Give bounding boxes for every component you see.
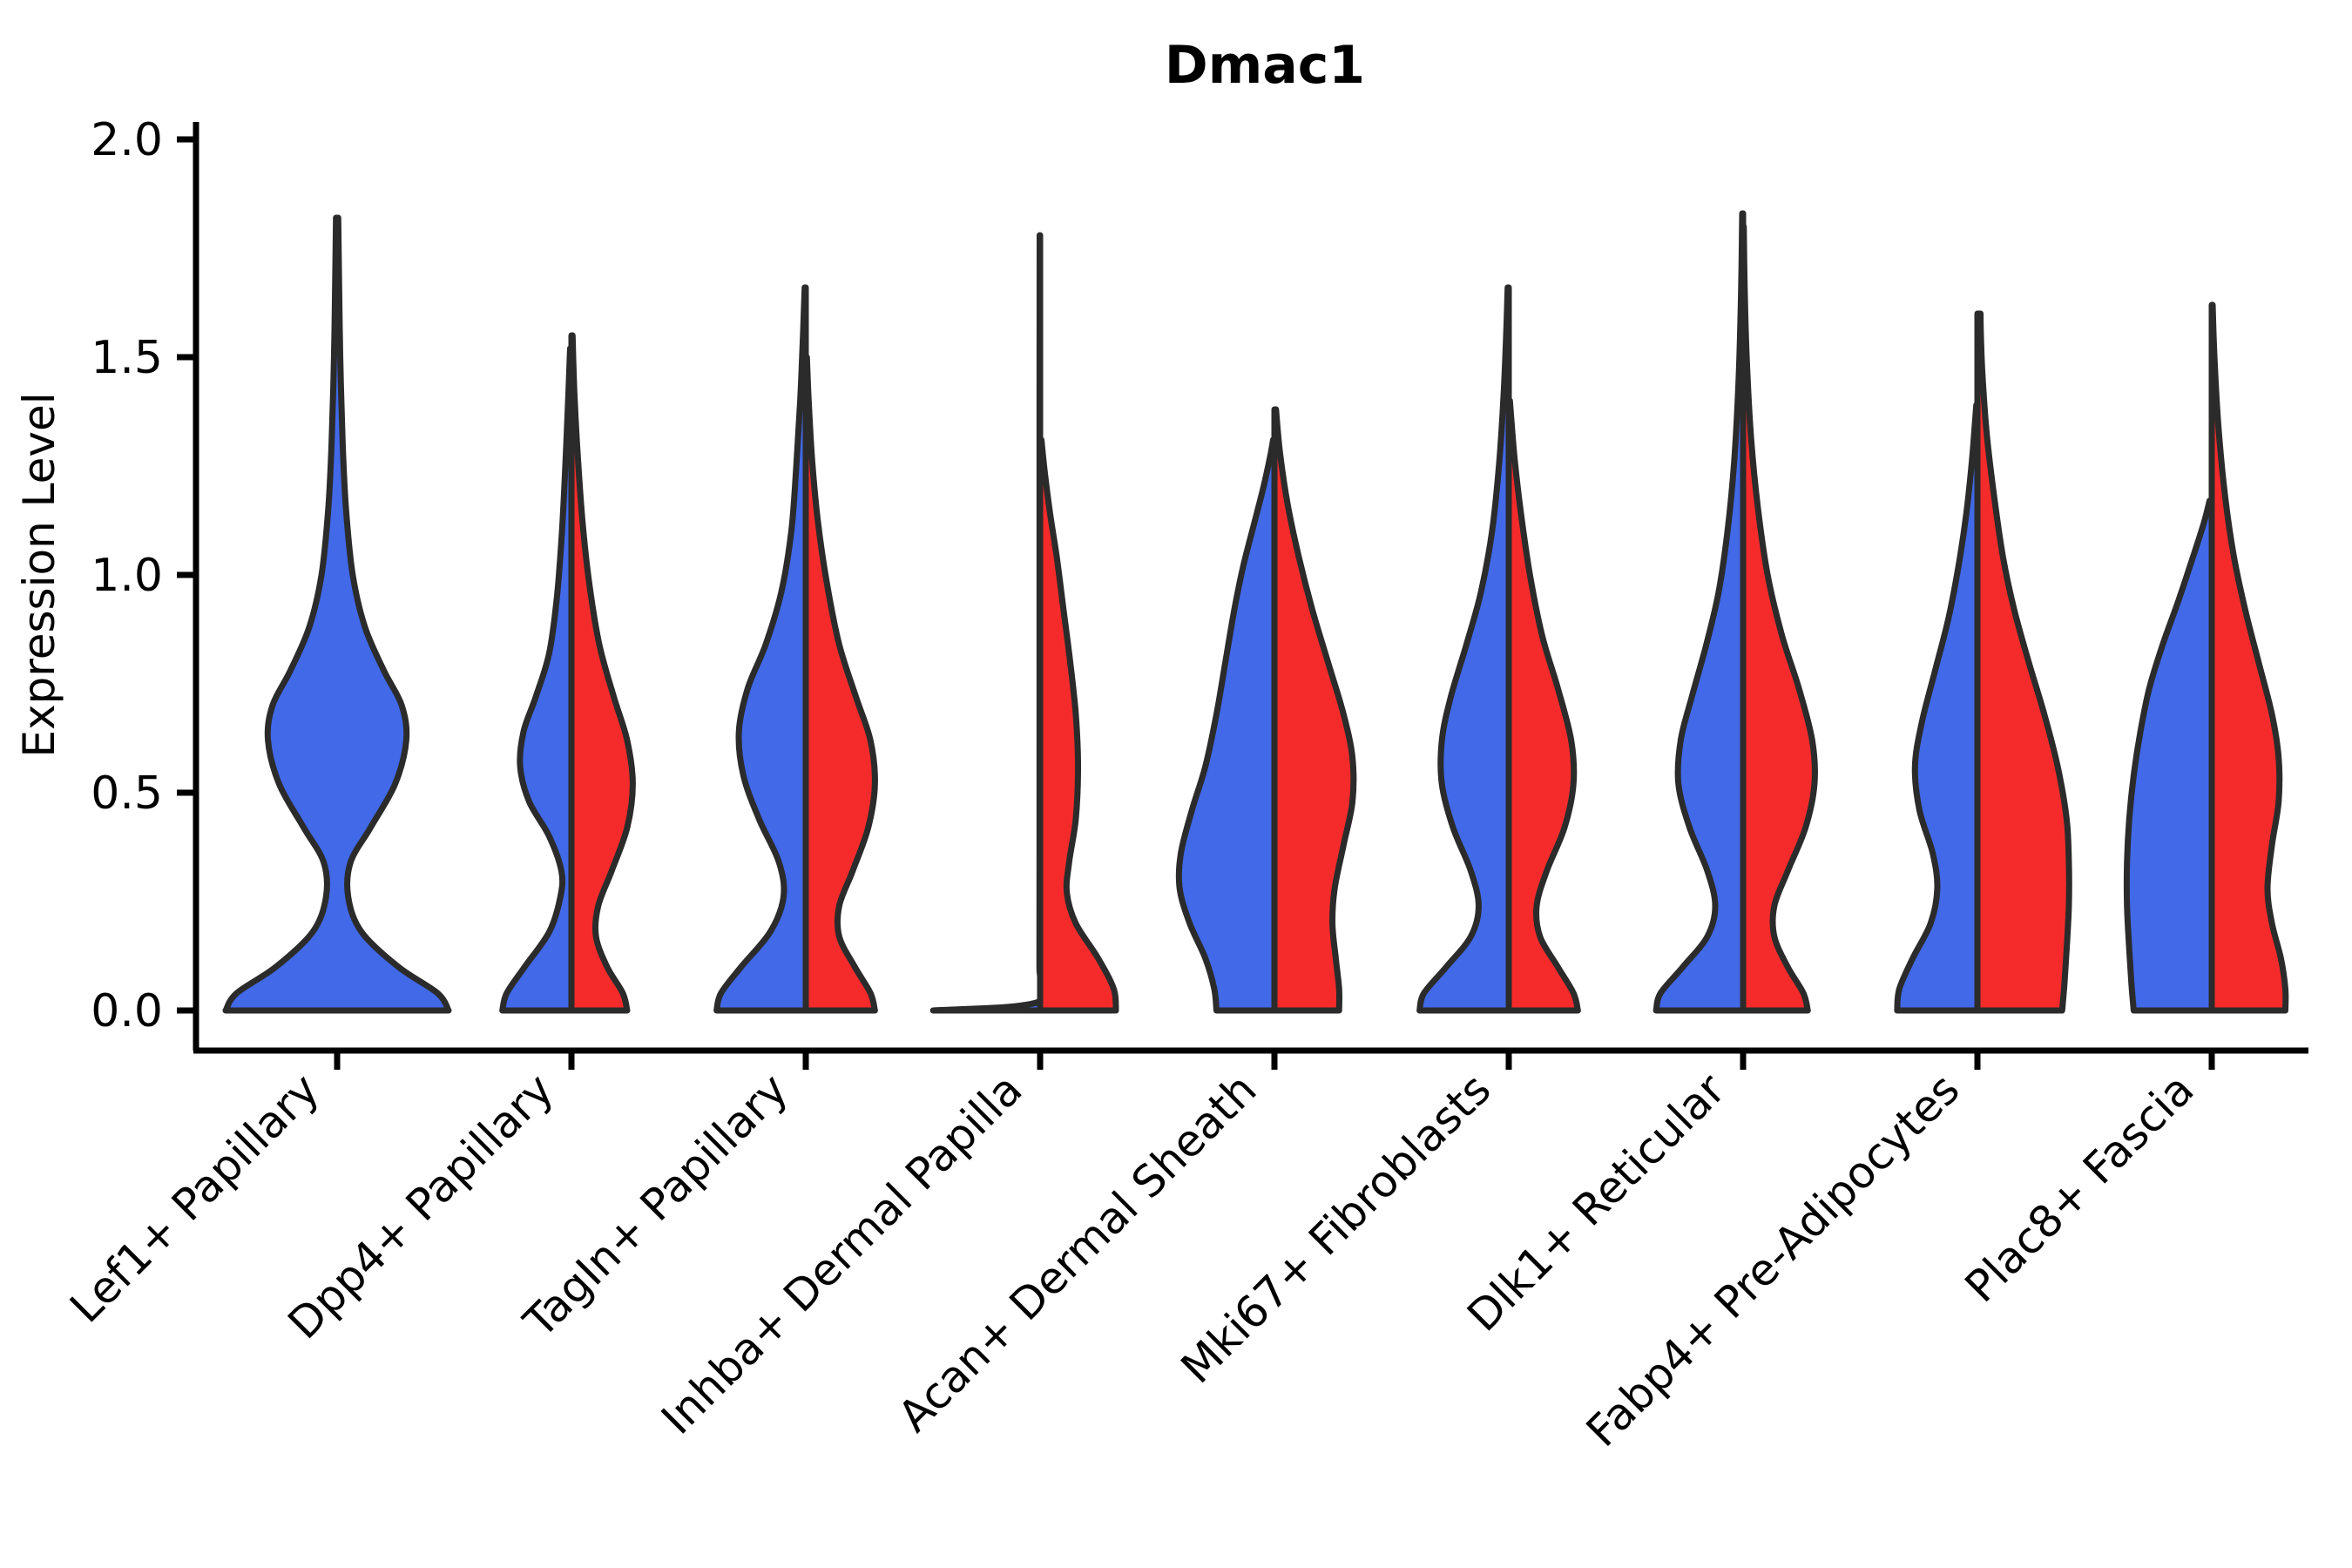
plot-canvas: Dmac1 Expression Level 0.00.51.01.52.0 L… xyxy=(0,0,2352,1568)
y-tick-label: 1.5 xyxy=(91,332,163,384)
chart-title: Dmac1 xyxy=(1165,35,1365,96)
y-axis-label: Expression Level xyxy=(14,392,64,757)
y-tick-label: 0.0 xyxy=(91,985,163,1037)
y-tick-label: 1.0 xyxy=(91,550,163,602)
y-tick-label: 0.5 xyxy=(91,767,163,820)
violin-plot-figure: Dmac1 Expression Level 0.00.51.01.52.0 L… xyxy=(0,0,2352,1568)
y-tick-label: 2.0 xyxy=(91,114,163,166)
